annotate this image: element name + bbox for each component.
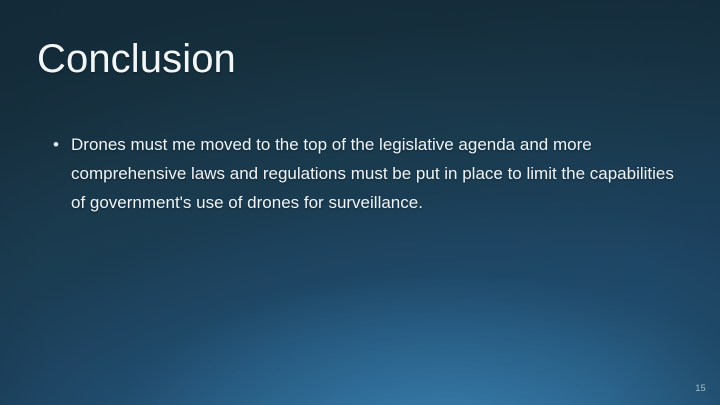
slide-page-number: 15	[695, 383, 706, 393]
presentation-slide: Conclusion • Drones must me moved to the…	[0, 0, 720, 405]
slide-title: Conclusion	[37, 36, 236, 82]
bullet-point-icon: •	[49, 130, 71, 159]
bullet-item-text: Drones must me moved to the top of the l…	[71, 130, 679, 217]
bullet-list-item: • Drones must me moved to the top of the…	[49, 130, 679, 217]
slide-body-content: • Drones must me moved to the top of the…	[49, 130, 679, 217]
